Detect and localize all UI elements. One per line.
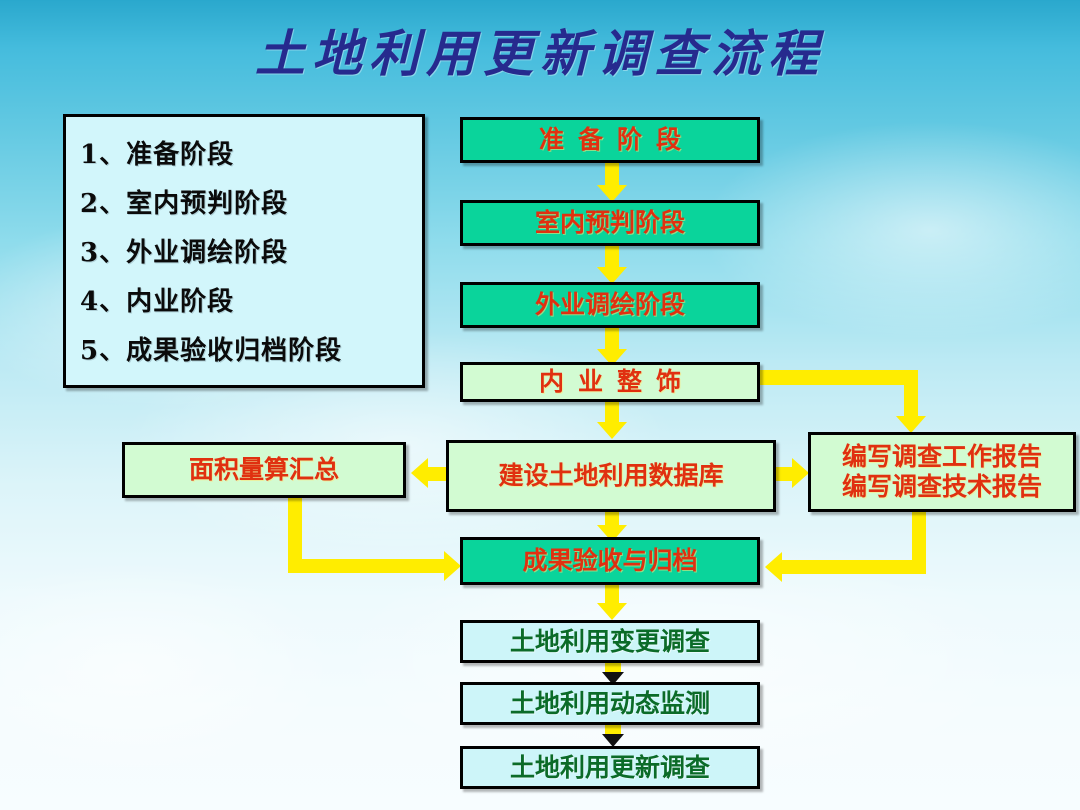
list-item: 5、成果验收归档阶段 [80, 327, 422, 376]
list-item: 4、内业阶段 [80, 278, 422, 327]
flow-node-label: 外业调绘阶段 [535, 291, 685, 319]
flow-node-label: 成果验收与归档 [522, 547, 697, 575]
flow-node-label: 土地利用变更调查 [510, 628, 710, 656]
list-item: 2、室内预判阶段 [80, 180, 422, 229]
flow-node-field[interactable]: 外业调绘阶段 [460, 282, 760, 328]
phase-list-panel: 1、准备阶段 2、室内预判阶段 3、外业调绘阶段 4、内业阶段 5、成果验收归档… [63, 114, 425, 388]
page-title: 土地利用更新调查流程 [0, 14, 1080, 86]
edge-tidy-to-reports [755, 370, 945, 440]
edge-reports-to-accept [756, 512, 946, 588]
flow-node-reports[interactable]: 编写调查工作报告 编写调查技术报告 [808, 432, 1076, 512]
cloud-decoration [0, 560, 340, 780]
flow-node-label-line1: 编写调查工作报告 [842, 443, 1042, 471]
flow-node-tidy[interactable]: 内业整饰 [460, 362, 760, 402]
edge-indoor-to-field [595, 245, 645, 285]
flow-node-change[interactable]: 土地利用变更调查 [460, 620, 760, 663]
flow-node-monitor[interactable]: 土地利用动态监测 [460, 682, 760, 725]
flow-node-label: 面积量算汇总 [189, 456, 339, 484]
flow-node-label: 室内预判阶段 [535, 209, 685, 237]
list-item: 3、外业调绘阶段 [80, 229, 422, 278]
flow-node-label: 建设土地利用数据库 [498, 462, 723, 490]
flow-node-indoor[interactable]: 室内预判阶段 [460, 200, 760, 246]
edge-tidy-to-database [595, 396, 645, 444]
list-item: 1、准备阶段 [80, 131, 422, 180]
flow-node-prep[interactable]: 准备阶段 [460, 117, 760, 163]
flow-node-accept[interactable]: 成果验收与归档 [460, 537, 760, 585]
flow-node-label: 准备阶段 [525, 126, 695, 154]
edge-prep-to-indoor [595, 163, 645, 203]
flow-node-label: 内业整饰 [525, 368, 695, 396]
flow-node-area[interactable]: 面积量算汇总 [122, 442, 406, 498]
flow-node-label: 土地利用更新调查 [510, 754, 710, 782]
edge-field-to-tidy [595, 327, 645, 367]
flow-node-label: 土地利用动态监测 [510, 690, 710, 718]
slide-canvas: 土地利用更新调查流程 1、准备阶段 2、室内预判阶段 3、外业调绘阶段 4、内业… [0, 0, 1080, 810]
edge-accept-to-change [595, 585, 645, 625]
flow-node-label-line2: 编写调查技术报告 [842, 473, 1042, 501]
flow-node-database[interactable]: 建设土地利用数据库 [446, 440, 776, 512]
flow-node-update[interactable]: 土地利用更新调查 [460, 746, 760, 789]
